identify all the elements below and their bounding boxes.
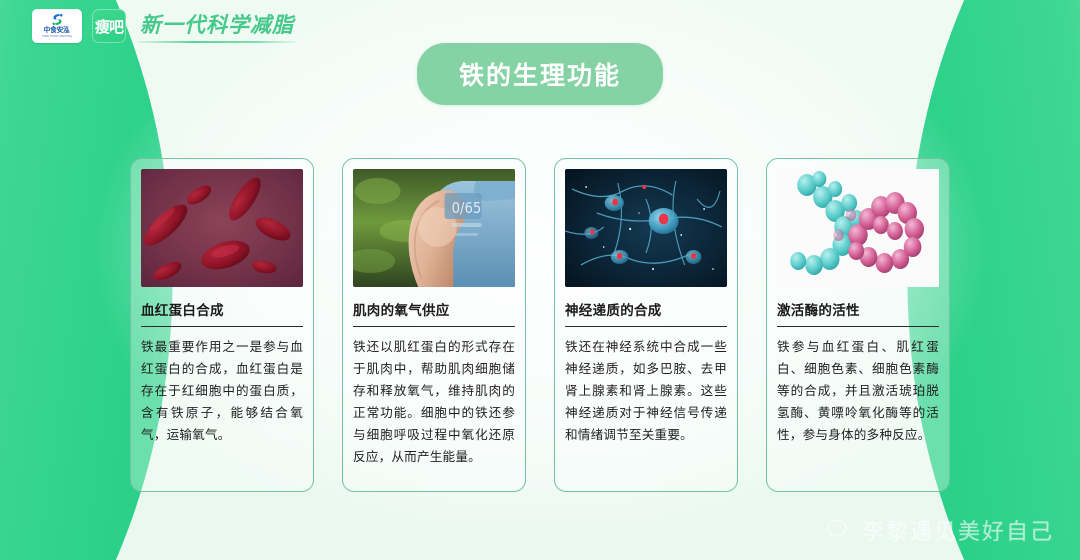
red-blood-cells-photo [141, 169, 303, 287]
card-body: 铁还以肌红蛋白的形式存在于肌肉中，帮助肌肉细胞储存和释放氧气，维持肌肉的正常功能… [353, 336, 515, 468]
app-logo-text: 瘦吧 [95, 16, 123, 37]
dna-double-helix-photo [777, 169, 939, 287]
card-muscle-oxygen-supply[interactable]: 0/65 肌肉的氧气供应 铁还以肌红蛋白的形式存在于肌肉中，帮助肌肉细胞储存和释… [342, 158, 526, 492]
neuron-network-photo [565, 169, 727, 287]
brand-slogan: 新一代科学减脂 [136, 9, 298, 43]
shouba-square-logo-icon: 瘦吧 [92, 9, 126, 43]
svg-text:0/65: 0/65 [452, 200, 482, 217]
brand-name-cn: 中食安泓 [44, 27, 70, 34]
brand-name-en: SINO FOOD ANHONG [42, 35, 72, 39]
page-title: 铁的生理功能 [417, 43, 663, 105]
slide-canvas: 中食安泓 SINO FOOD ANHONG 瘦吧 新一代科学减脂 铁的生理功能 [0, 0, 1080, 560]
swirl-logo-icon [50, 13, 65, 26]
watermark-text: 李黎遇见美好自己 [862, 514, 1054, 546]
cards-row: 血红蛋白合成 铁最重要作用之一是参与血红蛋白的合成，血红蛋白是存在于红细胞中的蛋… [0, 158, 1080, 492]
card-title: 激活酶的活性 [777, 299, 939, 327]
card-body: 铁最重要作用之一是参与血红蛋白的合成，血红蛋白是存在于红细胞中的蛋白质，含有铁原… [141, 336, 303, 446]
card-title: 神经递质的合成 [565, 299, 727, 327]
brand-logo: 中食安泓 SINO FOOD ANHONG [32, 9, 82, 43]
card-body: 铁参与血红蛋白、肌红蛋白、细胞色素、细胞色素酶等的合成，并且激活琥珀脱氢酶、黄嘌… [777, 336, 939, 446]
header-branding: 中食安泓 SINO FOOD ANHONG 瘦吧 新一代科学减脂 [32, 9, 298, 43]
card-hemoglobin-synthesis[interactable]: 血红蛋白合成 铁最重要作用之一是参与血红蛋白的合成，血红蛋白是存在于红细胞中的蛋… [130, 158, 314, 492]
card-enzyme-activation[interactable]: 激活酶的活性 铁参与血红蛋白、肌红蛋白、细胞色素、细胞色素酶等的合成，并且激活琥… [766, 158, 950, 492]
watermark: 李黎遇见美好自己 [827, 514, 1054, 546]
card-body: 铁还在神经系统中合成一些神经递质，如多巴胺、去甲肾上腺素和肾上腺素。这些神经递质… [565, 336, 727, 446]
flexed-arm-muscle-photo: 0/65 [353, 169, 515, 287]
wechat-icon [827, 519, 853, 541]
card-title: 血红蛋白合成 [141, 299, 303, 327]
card-neurotransmitter-synthesis[interactable]: 神经递质的合成 铁还在神经系统中合成一些神经递质，如多巴胺、去甲肾上腺素和肾上腺… [554, 158, 738, 492]
card-title: 肌肉的氧气供应 [353, 299, 515, 327]
